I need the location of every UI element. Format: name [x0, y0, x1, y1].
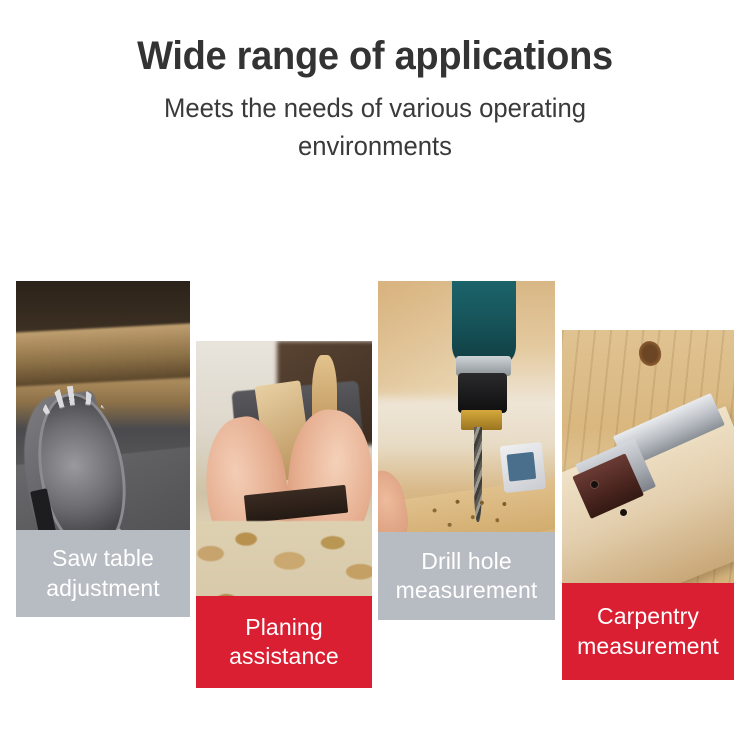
application-card-saw-table-adjustment[interactable]: Saw table adjustment: [16, 281, 190, 617]
promo-page: Wide range of applications Meets the nee…: [0, 0, 750, 750]
caption-saw-table-adjustment: Saw table adjustment: [16, 530, 190, 617]
caption-carpentry-measurement: Carpentry measurement: [562, 583, 734, 680]
application-card-drill-hole-measurement[interactable]: Drill hole measurement: [378, 281, 555, 620]
caption-line-2: measurement: [577, 632, 719, 661]
caption-line-1: Planing: [245, 613, 322, 642]
caption-drill-hole-measurement: Drill hole measurement: [378, 532, 555, 620]
caption-planing-assistance: Planing assistance: [196, 596, 372, 688]
caption-line-2: adjustment: [46, 574, 160, 603]
caption-line-2: measurement: [396, 576, 538, 605]
application-card-carpentry-measurement[interactable]: Carpentry measurement: [562, 330, 734, 680]
application-card-planing-assistance[interactable]: Planing assistance: [196, 341, 372, 688]
caption-line-1: Saw table: [52, 544, 154, 573]
application-card-grid: Saw table adjustment Planing assistance: [0, 0, 750, 750]
caption-line-2: assistance: [229, 642, 339, 671]
caption-line-1: Drill hole: [421, 547, 511, 576]
caption-line-1: Carpentry: [597, 602, 699, 631]
